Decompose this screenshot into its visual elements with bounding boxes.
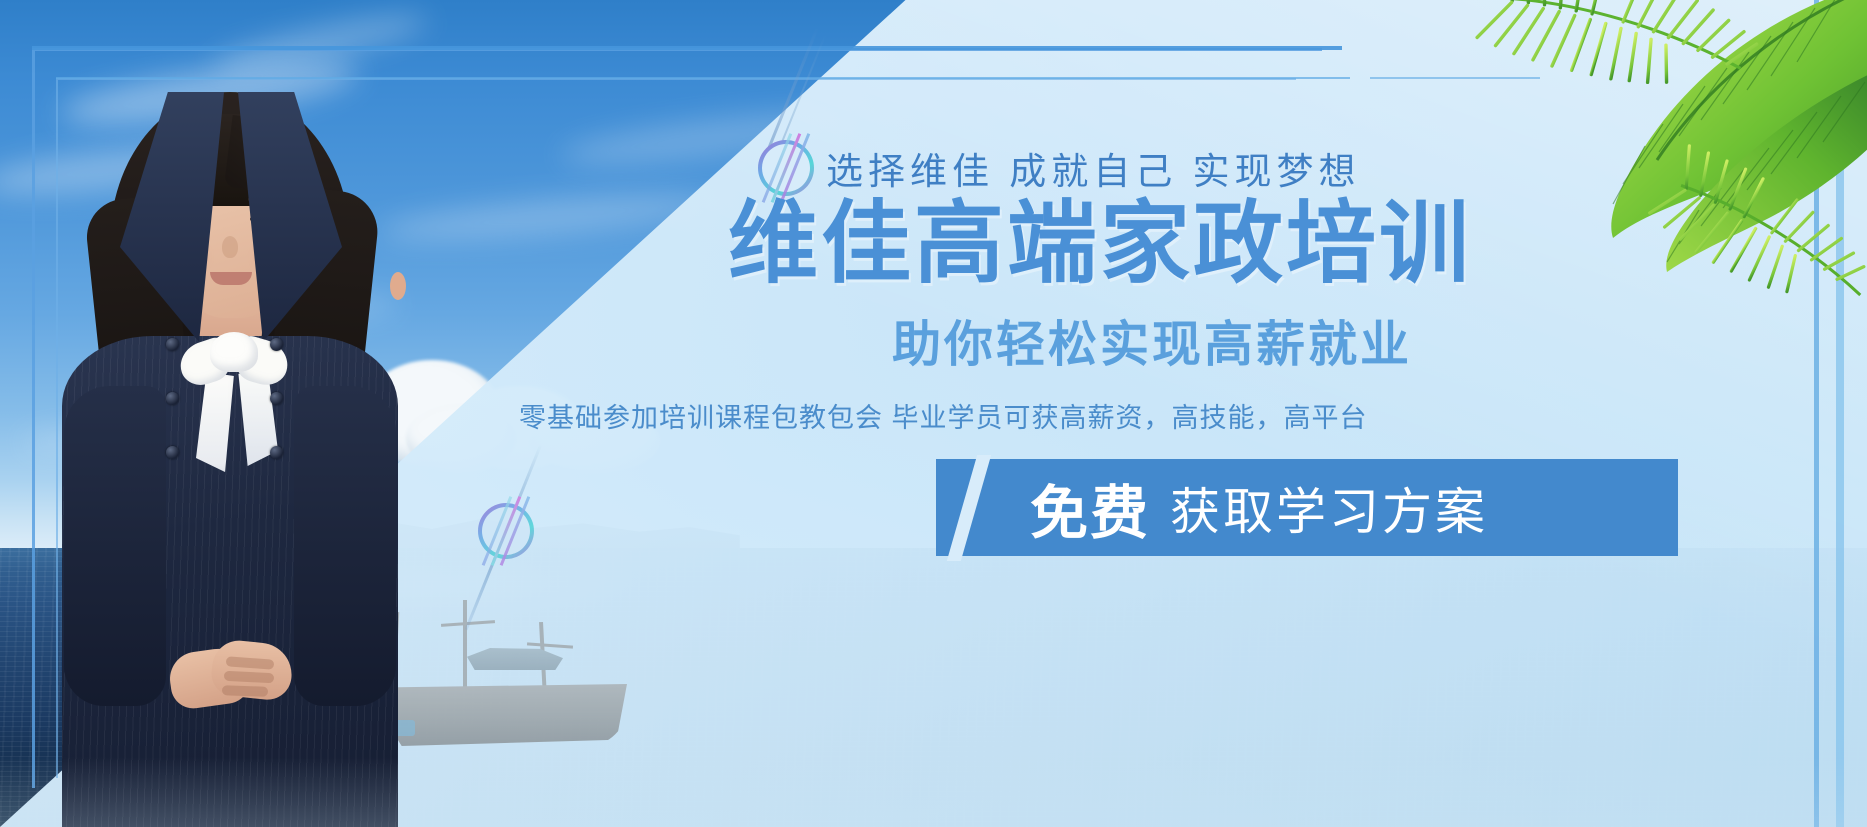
subheadline: 助你轻松实现高薪就业 [892, 305, 1412, 376]
cta-label: 获取学习方案 [1170, 472, 1488, 544]
promo-banner: 选择维佳 成就自己 实现梦想 维佳高端家政培训 助你轻松实现高薪就业 零基础参加… [0, 0, 1867, 827]
headline: 维佳高端家政培训 [728, 196, 1472, 293]
copy-block: 选择维佳 成就自己 实现梦想 维佳高端家政培训 助你轻松实现高薪就业 零基础参加… [0, 0, 1867, 827]
cta-highlight: 免费 [1030, 466, 1150, 550]
slash-accent-icon [947, 455, 991, 561]
cta-button[interactable]: 免费 获取学习方案 [936, 459, 1678, 556]
tagline: 选择维佳 成就自己 实现梦想 [826, 141, 1361, 195]
description: 零基础参加培训课程包教包会 毕业学员可获高薪资，高技能，高平台 [519, 396, 1368, 435]
